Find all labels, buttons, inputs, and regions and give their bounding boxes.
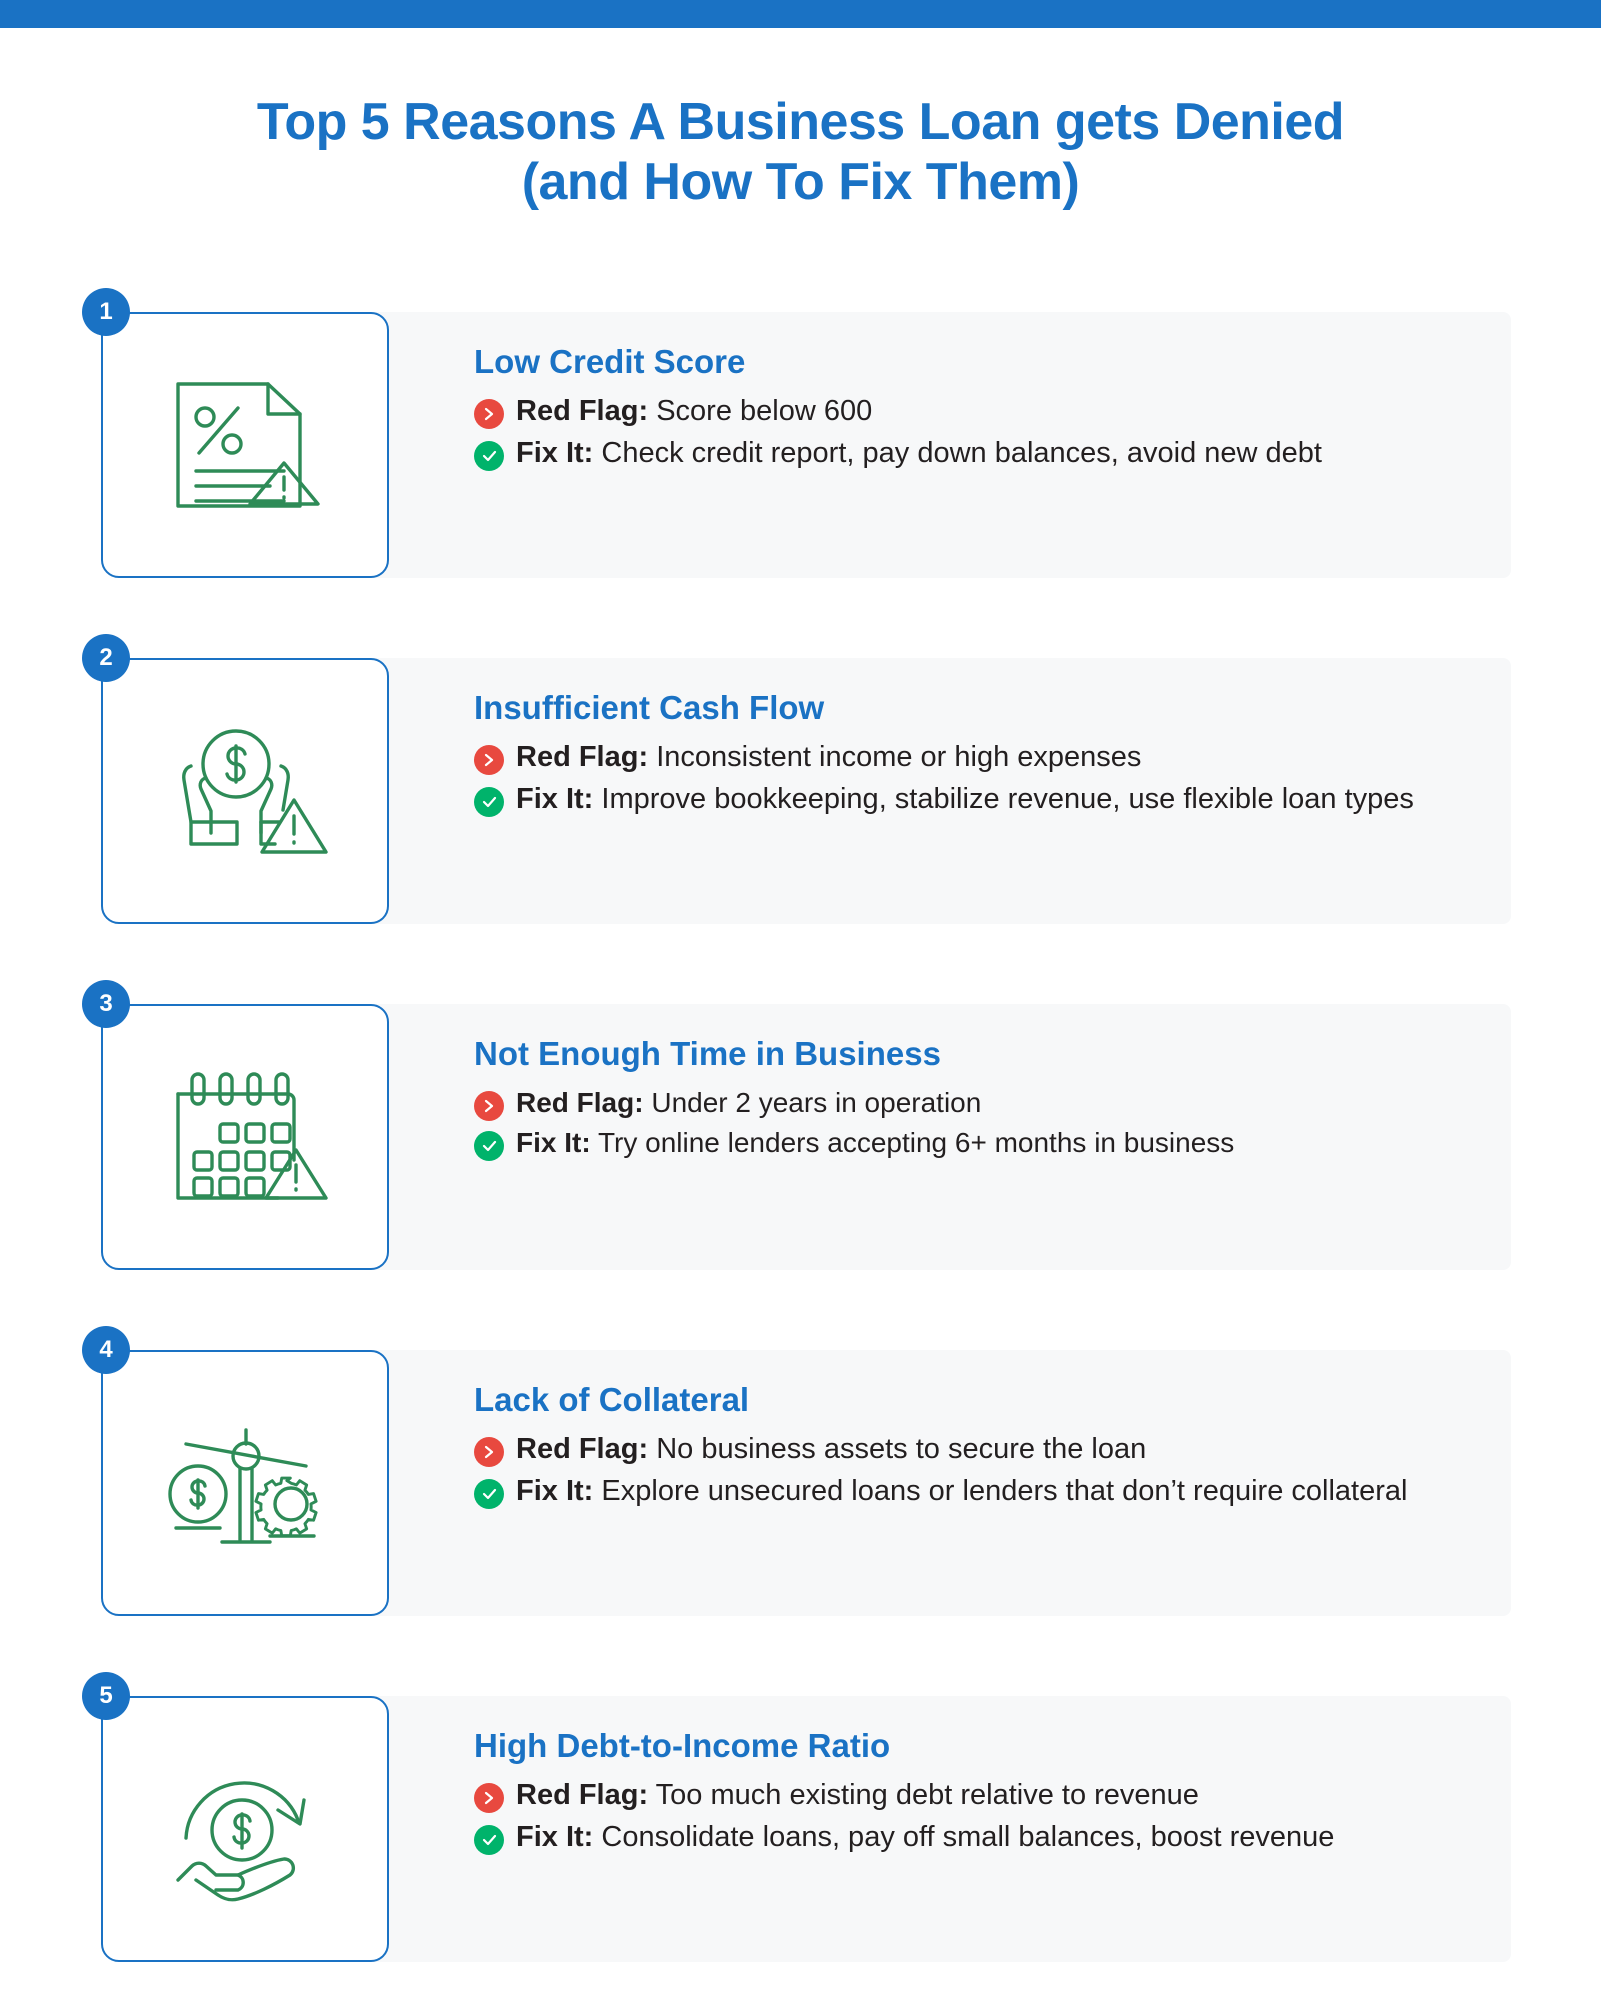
fix-it-label: Fix It: (516, 437, 593, 469)
red-flag-row: Red Flag: Score below 600 (474, 392, 1575, 431)
card-number-badge: 4 (82, 1326, 130, 1374)
card-title: High Debt-to-Income Ratio (474, 1726, 1575, 1766)
fix-it-label: Fix It: (516, 1127, 591, 1158)
fix-it-text: Fix It: Improve bookkeeping, stabilize r… (516, 780, 1575, 819)
fix-it-text: Fix It: Consolidate loans, pay off small… (516, 1818, 1575, 1857)
fix-it-text: Fix It: Check credit report, pay down ba… (516, 434, 1575, 473)
reason-card: 4 Lack of Collateral Red Flag: No busine… (0, 1344, 1601, 1622)
fix-it-label: Fix It: (516, 1821, 593, 1853)
hand-coin-refresh-icon (160, 1754, 330, 1904)
page-title: Top 5 Reasons A Business Loan gets Denie… (0, 92, 1601, 213)
card-number-badge: 1 (82, 288, 130, 336)
card-number-badge: 3 (82, 980, 130, 1028)
document-percent-warning-icon (160, 370, 330, 520)
card-title: Lack of Collateral (474, 1380, 1575, 1420)
card-title: Insufficient Cash Flow (474, 688, 1575, 728)
page-title-line-2: (and How To Fix Them) (120, 152, 1481, 212)
hands-holding-coin-warning-icon (160, 716, 330, 866)
chevron-right-icon (474, 1783, 504, 1813)
red-flag-row: Red Flag: Inconsistent income or high ex… (474, 738, 1575, 777)
chevron-right-icon (474, 1091, 504, 1121)
reason-card: 2 Insufficient Cash Flow Red Flag: Incon… (0, 652, 1601, 930)
reason-card-list: 1 Low Credit Score Red Flag: Score below… (0, 306, 1601, 1993)
card-number-badge: 5 (82, 1672, 130, 1720)
check-circle-icon (474, 441, 504, 471)
fix-it-row: Fix It: Explore unsecured loans or lende… (474, 1472, 1575, 1511)
fix-it-text: Fix It: Try online lenders accepting 6+ … (516, 1124, 1601, 1162)
check-circle-icon (474, 1825, 504, 1855)
fix-it-row: Fix It: Consolidate loans, pay off small… (474, 1818, 1575, 1857)
red-flag-label: Red Flag: (516, 741, 648, 773)
red-flag-value: Too much existing debt relative to reven… (656, 1779, 1199, 1811)
check-circle-icon (474, 1479, 504, 1509)
red-flag-text: Red Flag: No business assets to secure t… (516, 1430, 1575, 1469)
card-title: Not Enough Time in Business (474, 1034, 1601, 1074)
card-icon-box (101, 1696, 389, 1962)
card-title: Low Credit Score (474, 342, 1575, 382)
calendar-warning-icon (160, 1062, 330, 1212)
card-icon-box (101, 658, 389, 924)
fix-it-text: Fix It: Explore unsecured loans or lende… (516, 1472, 1575, 1511)
red-flag-label: Red Flag: (516, 1779, 648, 1811)
check-circle-icon (474, 787, 504, 817)
fix-it-row: Fix It: Improve bookkeeping, stabilize r… (474, 780, 1575, 819)
red-flag-value: Under 2 years in operation (651, 1087, 981, 1118)
red-flag-row: Red Flag: No business assets to secure t… (474, 1430, 1575, 1469)
red-flag-label: Red Flag: (516, 395, 648, 427)
reason-card: 1 Low Credit Score Red Flag: Score below… (0, 306, 1601, 584)
red-flag-value: Score below 600 (656, 395, 872, 427)
fix-it-row: Fix It: Check credit report, pay down ba… (474, 434, 1575, 473)
check-circle-icon (474, 1131, 504, 1161)
reason-card: 5 High Debt-to-Income Ratio Red Flag: To… (0, 1690, 1601, 1968)
red-flag-value: Inconsistent income or high expenses (656, 741, 1141, 773)
red-flag-text: Red Flag: Under 2 years in operation (516, 1084, 1601, 1122)
infographic-page: Top 5 Reasons A Business Loan gets Denie… (0, 0, 1601, 1993)
fix-it-value: Explore unsecured loans or lenders that … (601, 1475, 1407, 1507)
red-flag-row: Red Flag: Under 2 years in operation (474, 1084, 1601, 1122)
fix-it-row: Fix It: Try online lenders accepting 6+ … (474, 1124, 1601, 1162)
fix-it-label: Fix It: (516, 1475, 593, 1507)
chevron-right-icon (474, 399, 504, 429)
fix-it-value: Check credit report, pay down balances, … (601, 437, 1322, 469)
fix-it-value: Improve bookkeeping, stabilize revenue, … (601, 783, 1413, 815)
card-text-content: Low Credit Score Red Flag: Score below 6… (474, 342, 1575, 476)
reason-card: 3 Not Enough Time in Business Red Flag: … (0, 998, 1601, 1276)
card-text-content: Lack of Collateral Red Flag: No business… (474, 1380, 1575, 1514)
red-flag-text: Red Flag: Too much existing debt relativ… (516, 1776, 1575, 1815)
red-flag-text: Red Flag: Inconsistent income or high ex… (516, 738, 1575, 777)
card-text-content: High Debt-to-Income Ratio Red Flag: Too … (474, 1726, 1575, 1860)
fix-it-label: Fix It: (516, 783, 593, 815)
red-flag-label: Red Flag: (516, 1433, 648, 1465)
red-flag-value: No business assets to secure the loan (656, 1433, 1146, 1465)
card-text-content: Not Enough Time in Business Red Flag: Un… (474, 1034, 1601, 1165)
card-number-badge: 2 (82, 634, 130, 682)
card-icon-box (101, 1350, 389, 1616)
chevron-right-icon (474, 745, 504, 775)
red-flag-row: Red Flag: Too much existing debt relativ… (474, 1776, 1575, 1815)
card-icon-box (101, 312, 389, 578)
red-flag-label: Red Flag: (516, 1087, 644, 1118)
balance-scale-coin-gear-icon (160, 1408, 330, 1558)
card-icon-box (101, 1004, 389, 1270)
top-accent-bar (0, 0, 1601, 28)
card-text-content: Insufficient Cash Flow Red Flag: Inconsi… (474, 688, 1575, 822)
chevron-right-icon (474, 1437, 504, 1467)
fix-it-value: Try online lenders accepting 6+ months i… (598, 1127, 1234, 1158)
page-title-line-1: Top 5 Reasons A Business Loan gets Denie… (120, 92, 1481, 152)
red-flag-text: Red Flag: Score below 600 (516, 392, 1575, 431)
fix-it-value: Consolidate loans, pay off small balance… (601, 1821, 1334, 1853)
